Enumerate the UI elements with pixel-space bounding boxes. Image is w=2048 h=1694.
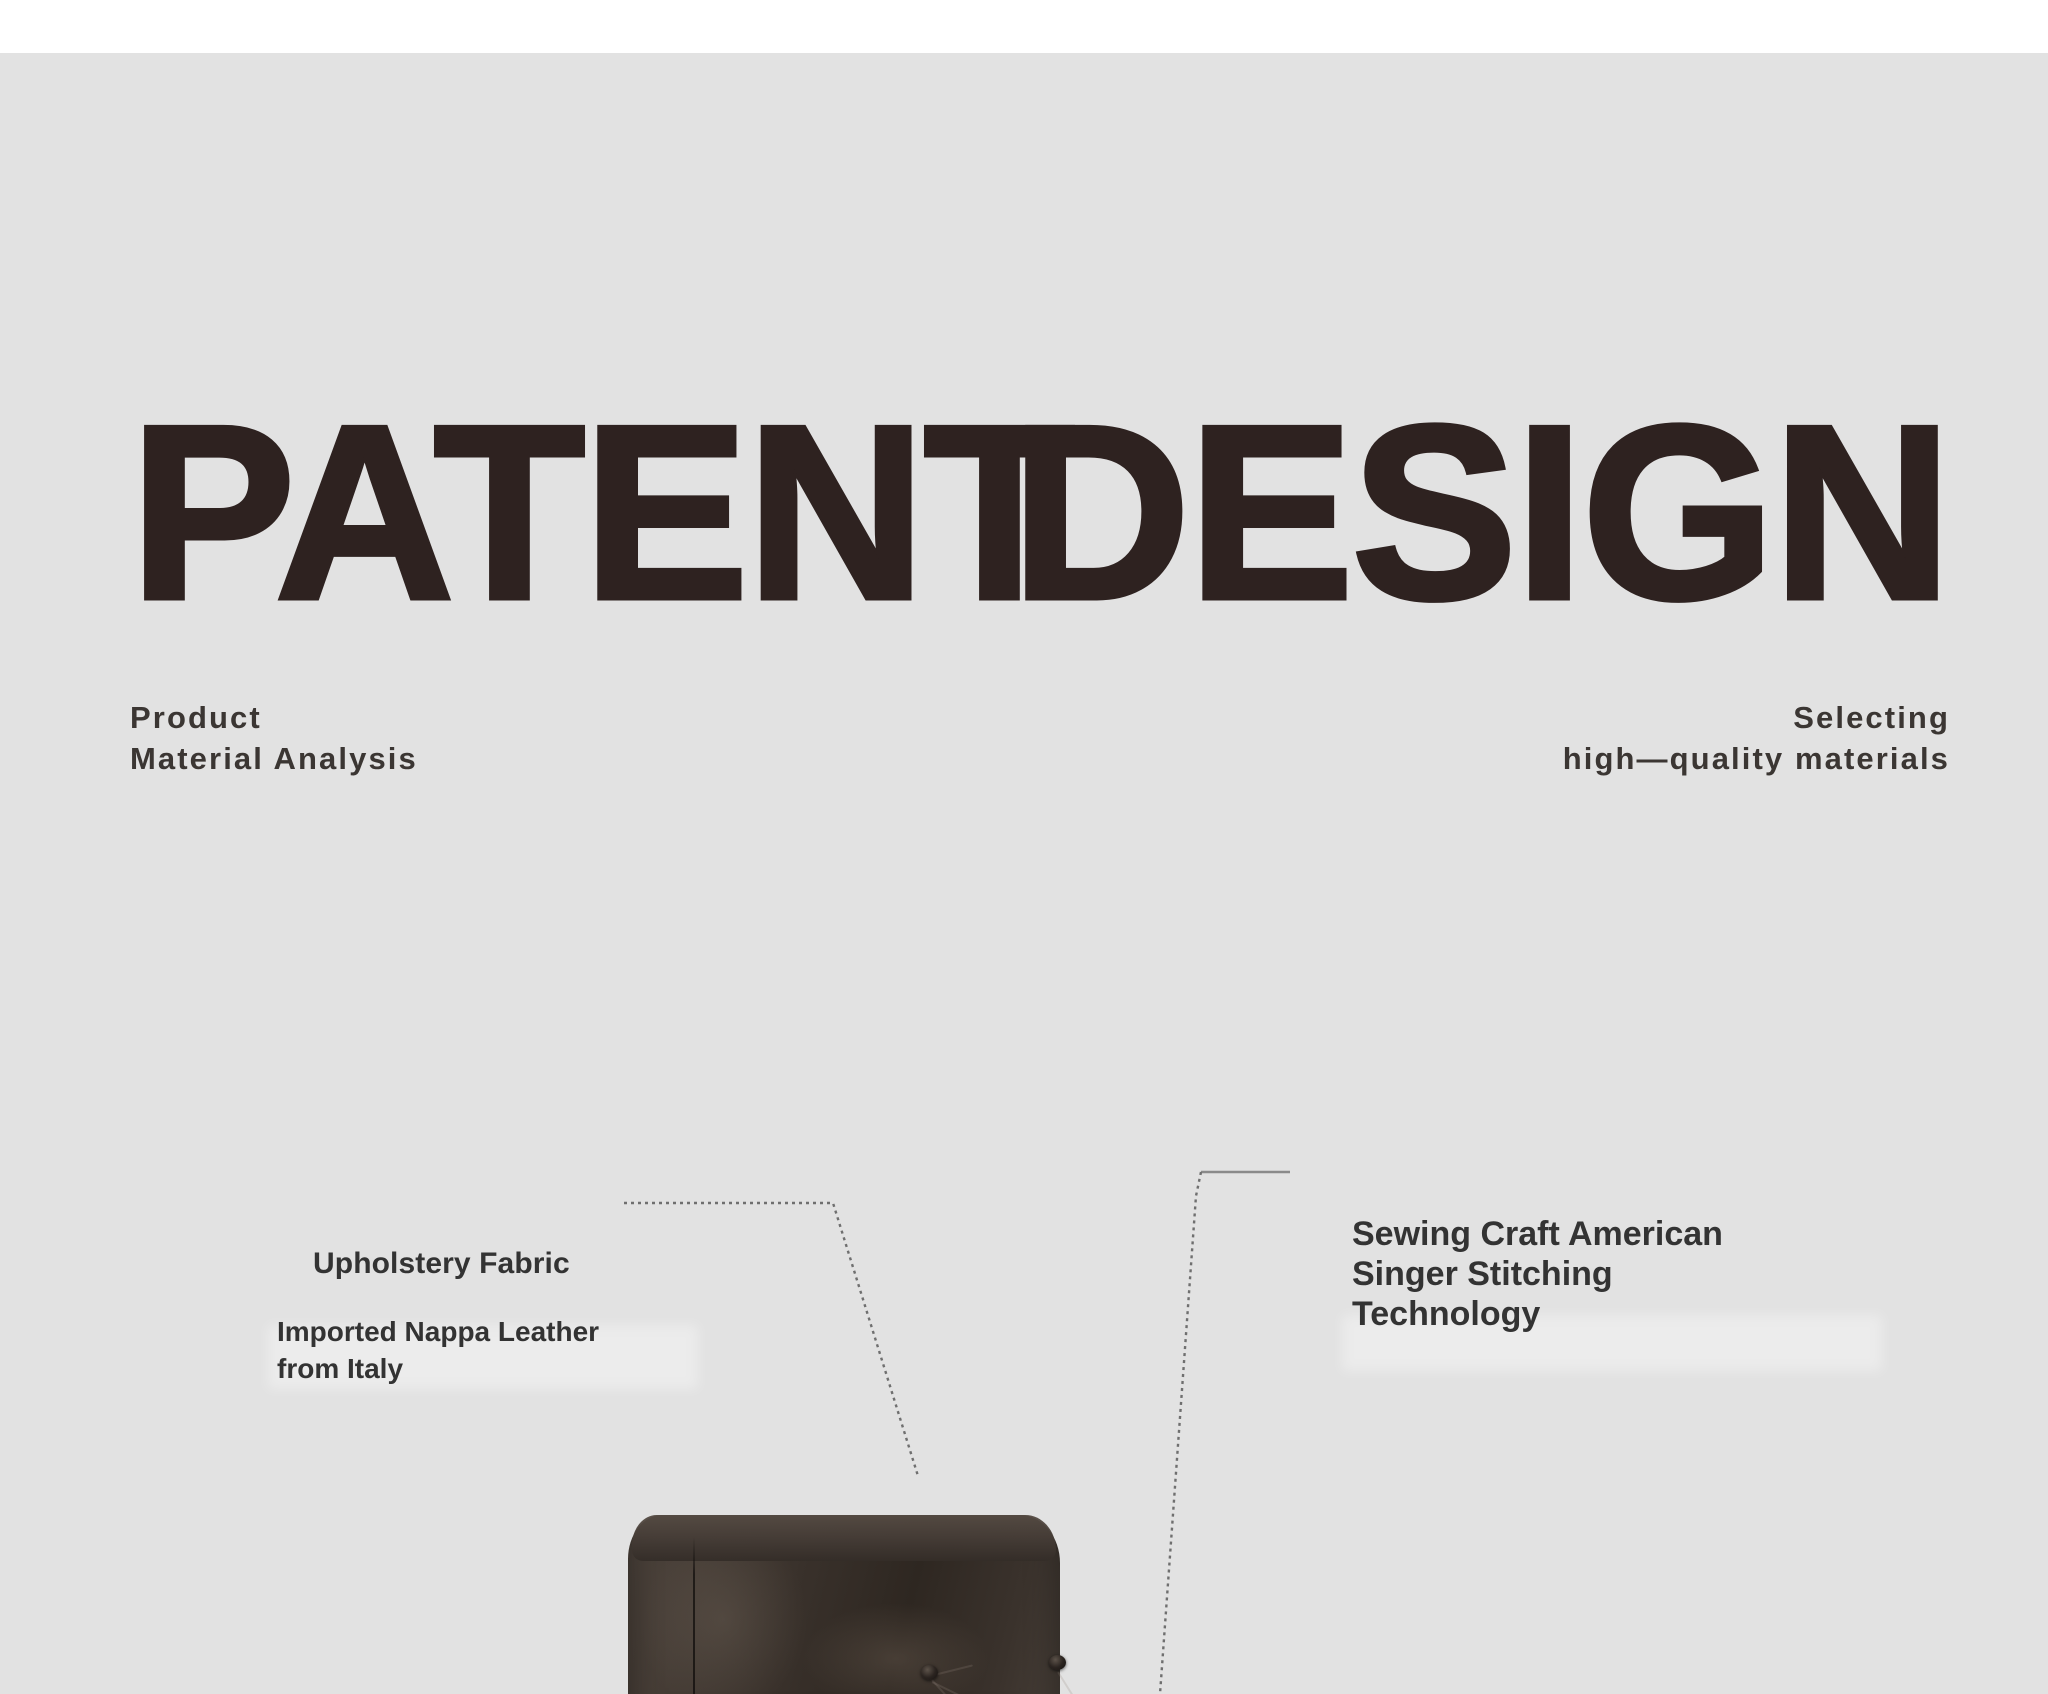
leather-crease (1057, 1671, 1086, 1694)
top-white-band (0, 0, 2048, 53)
callout-left-body-line2: from Italy (277, 1351, 599, 1388)
subhead-left-line1: Product (130, 698, 418, 739)
callout-right-block: Sewing Craft American Singer Stitching T… (1352, 1214, 1912, 1334)
subhead-right-line2: high—quality materials (1563, 739, 1950, 780)
poster-canvas: PATENT DESIGN Product Material Analysis … (0, 0, 2048, 1694)
subhead-left: Product Material Analysis (130, 698, 418, 780)
title-row: PATENT DESIGN (130, 388, 1950, 588)
masthead: PATENT DESIGN (130, 388, 1950, 588)
subhead-left-line2: Material Analysis (130, 739, 418, 780)
title-word-design: DESIGN (1011, 388, 1950, 636)
callout-left-body-line1: Imported Nappa Leather (277, 1314, 599, 1351)
product-chair-image (560, 1505, 1120, 1694)
subhead-right: Selecting high—quality materials (1563, 698, 1950, 780)
title-word-patent: PATENT (130, 388, 1073, 636)
callout-right-line1: Sewing Craft American (1352, 1214, 1912, 1254)
tufting-button (921, 1665, 938, 1680)
poster-stage: PATENT DESIGN Product Material Analysis … (0, 53, 2048, 1694)
subhead-right-line1: Selecting (1563, 698, 1950, 739)
chair-headrest-roll (632, 1515, 1056, 1561)
chair-panel-seam (693, 1537, 695, 1694)
callout-right-line3: Technology (1352, 1294, 1912, 1334)
tufting-button (1049, 1655, 1066, 1670)
callout-left-heading: Upholstery Fabric (313, 1246, 570, 1282)
callout-right-line2: Singer Stitching (1352, 1254, 1912, 1294)
callout-left-body: Imported Nappa Leather from Italy (277, 1314, 599, 1388)
